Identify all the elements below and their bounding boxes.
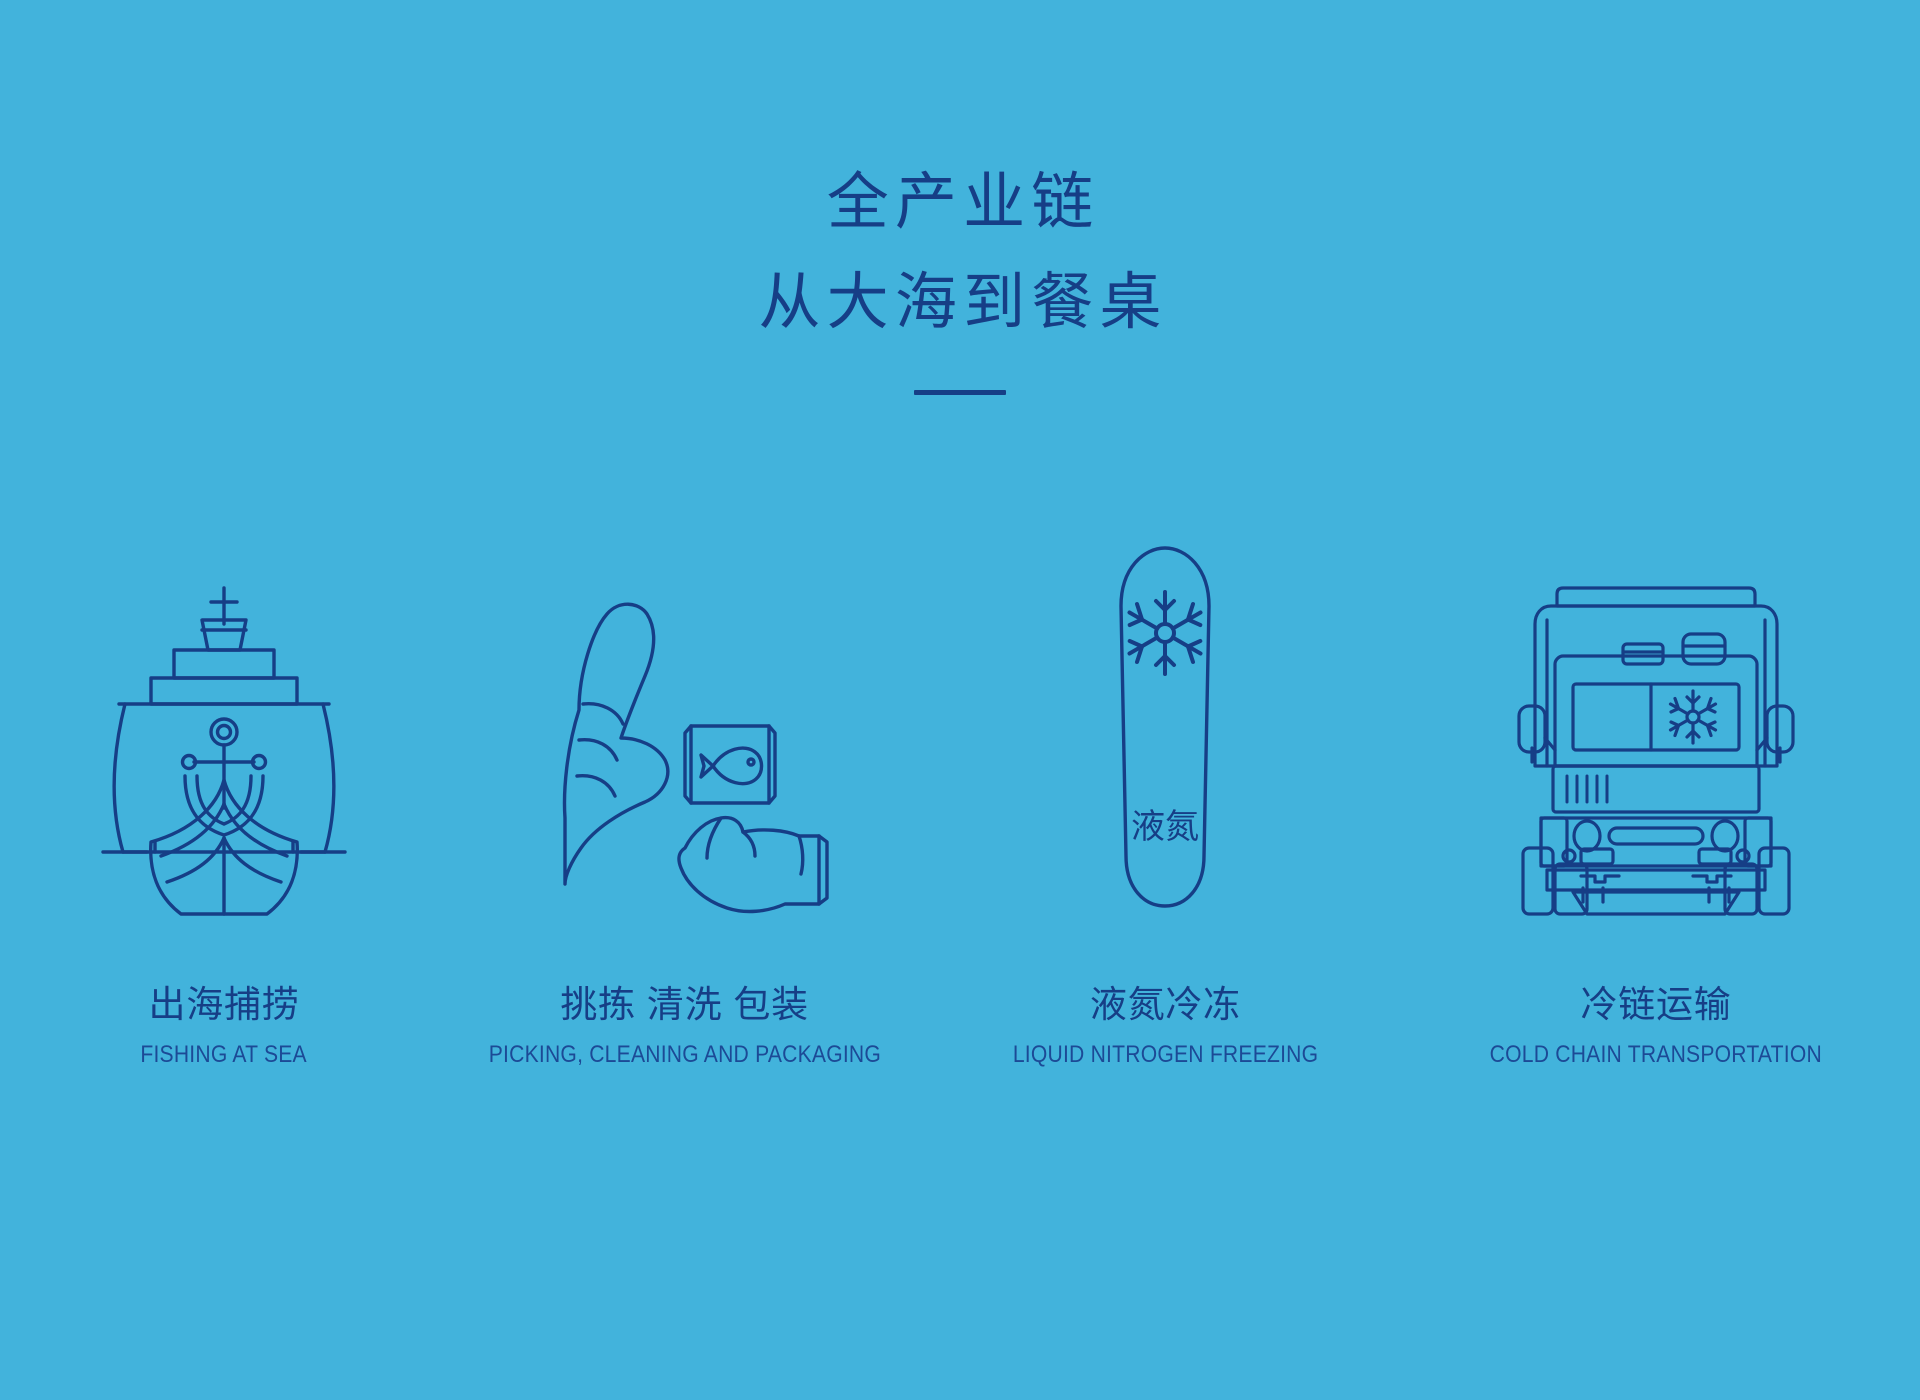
- step-liquid-nitrogen-freezing[interactable]: 液氮 液氮冷冻 LIQUID NITROGEN FREEZING: [945, 520, 1385, 1070]
- step-label-en: FISHING AT SEA: [141, 1041, 307, 1070]
- step-label-cn: 液氮冷冻: [992, 982, 1339, 1028]
- page-root: 全产业链 从大海到餐桌: [0, 0, 1920, 1400]
- fishing-boat-anchor-icon: [89, 520, 359, 920]
- nitrogen-tank-snowflake-icon: 液氮: [1080, 520, 1250, 920]
- step-labels: 液氮冷冻 LIQUID NITROGEN FREEZING: [992, 982, 1339, 1070]
- hands-with-packaged-fish-icon: [535, 520, 835, 920]
- page-title-line-1: 全产业链: [0, 172, 1920, 234]
- step-label-cn: 冷链运输: [1467, 982, 1845, 1028]
- step-fishing-at-sea[interactable]: 出海捕捞 FISHING AT SEA: [24, 520, 424, 1070]
- step-labels: 挑拣 清洗 包装 PICKING, CLEANING AND PACKAGING: [462, 982, 908, 1070]
- step-labels: 出海捕捞 FISHING AT SEA: [129, 982, 318, 1070]
- process-steps-row: 出海捕捞 FISHING AT SEA: [0, 520, 1920, 1070]
- title-divider: [914, 390, 1006, 395]
- tank-label-text: 液氮: [1131, 808, 1199, 846]
- step-label-en: LIQUID NITROGEN FREEZING: [1013, 1041, 1318, 1070]
- step-label-en: PICKING, CLEANING AND PACKAGING: [489, 1041, 881, 1070]
- step-labels: 冷链运输 COLD CHAIN TRANSPORTATION: [1467, 982, 1845, 1070]
- page-header: 全产业链 从大海到餐桌: [0, 0, 1920, 395]
- step-label-cn: 出海捕捞: [129, 982, 318, 1028]
- refrigerated-truck-icon: [1511, 520, 1801, 920]
- step-cold-chain-transportation[interactable]: 冷链运输 COLD CHAIN TRANSPORTATION: [1416, 520, 1896, 1070]
- step-label-cn: 挑拣 清洗 包装: [462, 982, 908, 1028]
- step-label-en: COLD CHAIN TRANSPORTATION: [1490, 1041, 1822, 1070]
- page-title-line-2: 从大海到餐桌: [0, 272, 1920, 334]
- step-picking-cleaning-packaging[interactable]: 挑拣 清洗 包装 PICKING, CLEANING AND PACKAGING: [455, 520, 915, 1070]
